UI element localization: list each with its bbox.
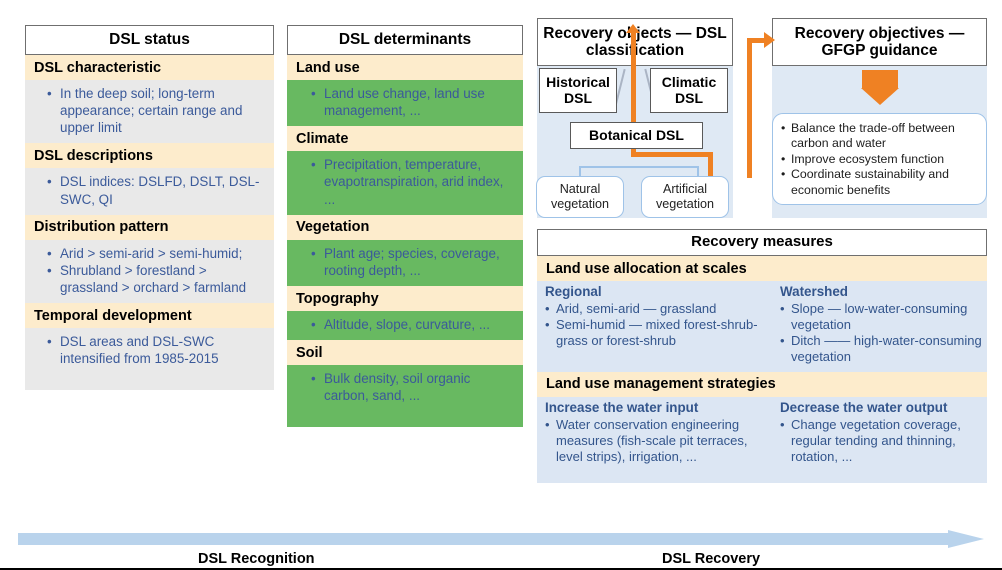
band-label-dsl-recovery: DSL Recovery [662,551,760,567]
bullet-dot: • [780,417,791,465]
bullet-dot: • [545,301,556,317]
section-body-dsl-descriptions: • DSL indices: DSLFD, DSLT, DSL-SWC, QI [25,168,274,214]
bullet-dot: • [781,121,791,152]
bullet-item: • Balance the trade-off between carbon a… [781,121,980,152]
bullet-text: Change vegetation coverage, regular tend… [791,417,983,465]
bullet-dot: • [545,317,556,349]
bullet-dot: • [47,262,60,296]
bullet-text: Improve ecosystem function [791,152,980,167]
bullet-text: Precipitation, temperature, evapotranspi… [324,156,515,207]
management-increase-title: Increase the water input [545,400,774,416]
bullet-dot: • [781,152,791,167]
bullet-item: • Land use change, land use management, … [299,85,515,119]
bullet-text: Semi-humid — mixed forest-shrub-grass or… [556,317,776,349]
bullet-text: DSL areas and DSL-SWC intensified from 1… [60,333,264,367]
section-body-soil: • Bulk density, soil organic carbon, san… [287,365,523,427]
bullet-text: DSL indices: DSLFD, DSLT, DSL-SWC, QI [60,173,264,207]
bullet-text: Balance the trade-off between carbon and… [791,121,980,152]
bullet-dot: • [47,85,60,136]
bullet-item: • Change vegetation coverage, regular te… [780,417,983,465]
bullet-item: • Arid, semi-arid — grassland [545,301,776,317]
section-head-dsl-descriptions: DSL descriptions [25,143,274,168]
bullet-dot: • [311,316,324,333]
bullet-item: • Ditch —— high-water-consuming vegetati… [780,333,983,365]
column-dsl-determinants: DSL determinants Land use • Land use cha… [287,25,523,427]
section-head-soil: Soil [287,340,523,365]
section-body-land-use: • Land use change, land use management, … [287,80,523,126]
bullet-text: Water conservation engineering measures … [556,417,774,465]
orange-arrow-right-icon [764,32,775,48]
bullet-item: • Plant age; species, coverage, rooting … [299,245,515,279]
section-body-distribution-pattern: • Arid > semi-arid > semi-humid; • Shrub… [25,240,274,303]
section-head-land-use: Land use [287,55,523,80]
box-botanical-dsl: Botanical DSL [570,122,703,149]
bullet-text: Plant age; species, coverage, rooting de… [324,245,515,279]
bullet-dot: • [311,370,324,404]
bullet-text: Ditch —— high-water-consuming vegetation [791,333,983,365]
allocation-regional-group: Regional • Arid, semi-arid — grassland •… [545,284,780,366]
bullet-dot: • [311,156,324,207]
bullet-dot: • [545,417,556,465]
management-decrease-group: Decrease the water output • Change veget… [780,400,983,465]
bullet-dot: • [781,167,791,198]
bullet-item: • Improve ecosystem function [781,152,980,167]
process-arrow [18,530,984,548]
column-title-dsl-status: DSL status [25,25,274,55]
section-body-land-use-allocation: Regional • Arid, semi-arid — grassland •… [537,281,987,372]
box-natural-vegetation: Natural vegetation [536,176,624,218]
bullet-item: • Bulk density, soil organic carbon, san… [299,370,515,404]
bullet-item: • DSL areas and DSL-SWC intensified from… [37,333,264,367]
objectives-list: • Balance the trade-off between carbon a… [772,113,987,205]
recovery-region: Recovery objects — DSL classification Re… [537,18,987,523]
bullet-dot: • [47,245,60,262]
bullet-item: • Slope — low-water-consuming vegetation [780,301,983,333]
section-body-land-use-management: Increase the water input • Water conserv… [537,397,987,483]
orange-connector-horizontal-artificial [631,152,713,157]
column-dsl-status: DSL status DSL characteristic • In the d… [25,25,274,390]
bullet-text: Altitude, slope, curvature, ... [324,316,515,333]
section-head-topography: Topography [287,286,523,311]
bullet-item: • In the deep soil; long-term appearance… [37,85,264,136]
connector-botanical-horizontal [579,166,699,168]
bullet-dot: • [311,245,324,279]
section-body-topography: • Altitude, slope, curvature, ... [287,311,523,340]
recovery-measures-title: Recovery measures [537,229,987,256]
orange-connector-right-vertical [747,38,752,178]
bullet-dot: • [47,173,60,207]
bullet-text: Bulk density, soil organic carbon, sand,… [324,370,515,404]
section-head-land-use-management: Land use management strategies [537,372,987,397]
bullet-text: Arid > semi-arid > semi-humid; [60,245,264,262]
allocation-watershed-title: Watershed [780,284,983,300]
section-head-dsl-characteristic: DSL characteristic [25,55,274,80]
orange-big-arrow-head-icon [861,88,899,105]
bullet-item: • Arid > semi-arid > semi-humid; [37,245,264,262]
orange-connector-artificial-drop [708,152,713,176]
allocation-watershed-group: Watershed • Slope — low-water-consuming … [780,284,983,366]
diagram-root: DSL status DSL characteristic • In the d… [0,0,1002,570]
management-increase-group: Increase the water input • Water conserv… [545,400,780,465]
bullet-text: In the deep soil; long-term appearance; … [60,85,264,136]
orange-arrow-up-icon [626,24,640,33]
box-artificial-vegetation: Artificial vegetation [641,176,729,218]
bullet-text: Slope — low-water-consuming vegetation [791,301,983,333]
bullet-item: • Shrubland > forestland > grassland > o… [37,262,264,296]
bullet-item: • DSL indices: DSLFD, DSLT, DSL-SWC, QI [37,173,264,207]
bullet-text: Arid, semi-arid — grassland [556,301,776,317]
section-head-temporal-development: Temporal development [25,303,274,328]
orange-connector-right-horizontal [747,38,765,43]
section-body-temporal-development: • DSL areas and DSL-SWC intensified from… [25,328,274,390]
section-body-vegetation: • Plant age; species, coverage, rooting … [287,240,523,286]
recovery-measures: Recovery measures Land use allocation at… [537,229,987,483]
process-arrow-shaft [18,533,948,545]
box-historical-dsl: Historical DSL [539,68,617,113]
bullet-item: • Precipitation, temperature, evapotrans… [299,156,515,207]
allocation-regional-title: Regional [545,284,776,300]
bullet-item: • Water conservation engineering measure… [545,417,774,465]
section-head-vegetation: Vegetation [287,215,523,240]
management-decrease-title: Decrease the water output [780,400,983,416]
section-body-climate: • Precipitation, temperature, evapotrans… [287,151,523,214]
band-label-dsl-recognition: DSL Recognition [198,551,315,567]
recovery-objectives-title: Recovery objectives — GFGP guidance [772,18,987,66]
section-head-climate: Climate [287,126,523,151]
bullet-dot: • [780,333,791,365]
section-head-distribution-pattern: Distribution pattern [25,215,274,240]
bullet-dot: • [780,301,791,333]
bullet-dot: • [311,85,324,119]
bullet-text: Shrubland > forestland > grassland > orc… [60,262,264,296]
section-body-dsl-characteristic: • In the deep soil; long-term appearance… [25,80,274,143]
process-arrow-head-icon [948,530,984,548]
bullet-dot: • [47,333,60,367]
bullet-text: Coordinate sustainability and economic b… [791,167,980,198]
bullet-item: • Coordinate sustainability and economic… [781,167,980,198]
section-head-land-use-allocation: Land use allocation at scales [537,256,987,281]
bullet-item: • Semi-humid — mixed forest-shrub-grass … [545,317,776,349]
column-title-dsl-determinants: DSL determinants [287,25,523,55]
orange-big-arrow-shaft [862,70,898,88]
bullet-text: Land use change, land use management, ..… [324,85,515,119]
box-climatic-dsl: Climatic DSL [650,68,728,113]
bullet-item: • Altitude, slope, curvature, ... [299,316,515,333]
